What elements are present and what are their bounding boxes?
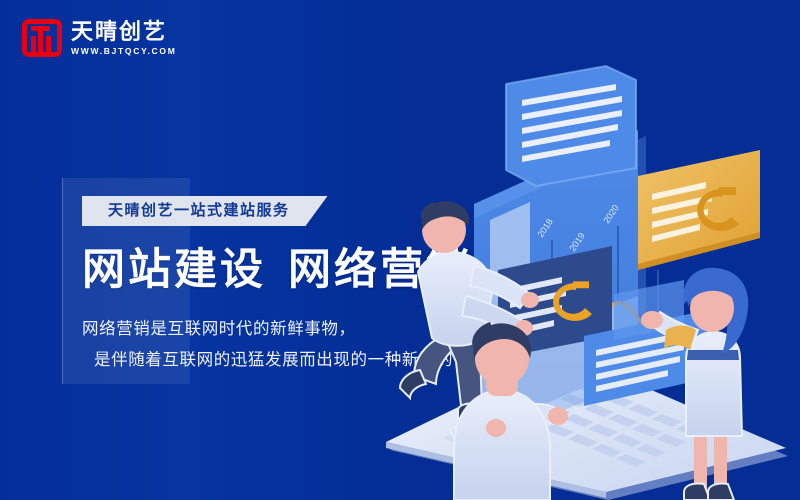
top-blue-card bbox=[506, 66, 636, 186]
copy-backdrop-rule bbox=[62, 178, 63, 384]
hero-tagline: 天晴创艺一站式建站服务 bbox=[82, 196, 328, 226]
gold-card bbox=[638, 150, 760, 270]
hero-banner: 天晴创艺 WWW.BJTQCY.COM 天晴创艺一站式建站服务 网站建设网络营销… bbox=[0, 0, 800, 500]
logo-website-url: WWW.BJTQCY.COM bbox=[71, 46, 177, 56]
site-logo[interactable]: 天晴创艺 WWW.BJTQCY.COM bbox=[22, 14, 192, 62]
logo-text-group: 天晴创艺 WWW.BJTQCY.COM bbox=[71, 20, 177, 56]
subtitle-line-1: 网络营销是互联网时代的新鲜事物， bbox=[82, 320, 356, 338]
hero-illustration: 2018 2019 2020 2021 bbox=[370, 58, 800, 500]
tianqing-square-mark-icon bbox=[22, 19, 62, 57]
logo-company-name: 天晴创艺 bbox=[71, 20, 177, 43]
headline-part-1: 网站建设 bbox=[82, 246, 266, 294]
